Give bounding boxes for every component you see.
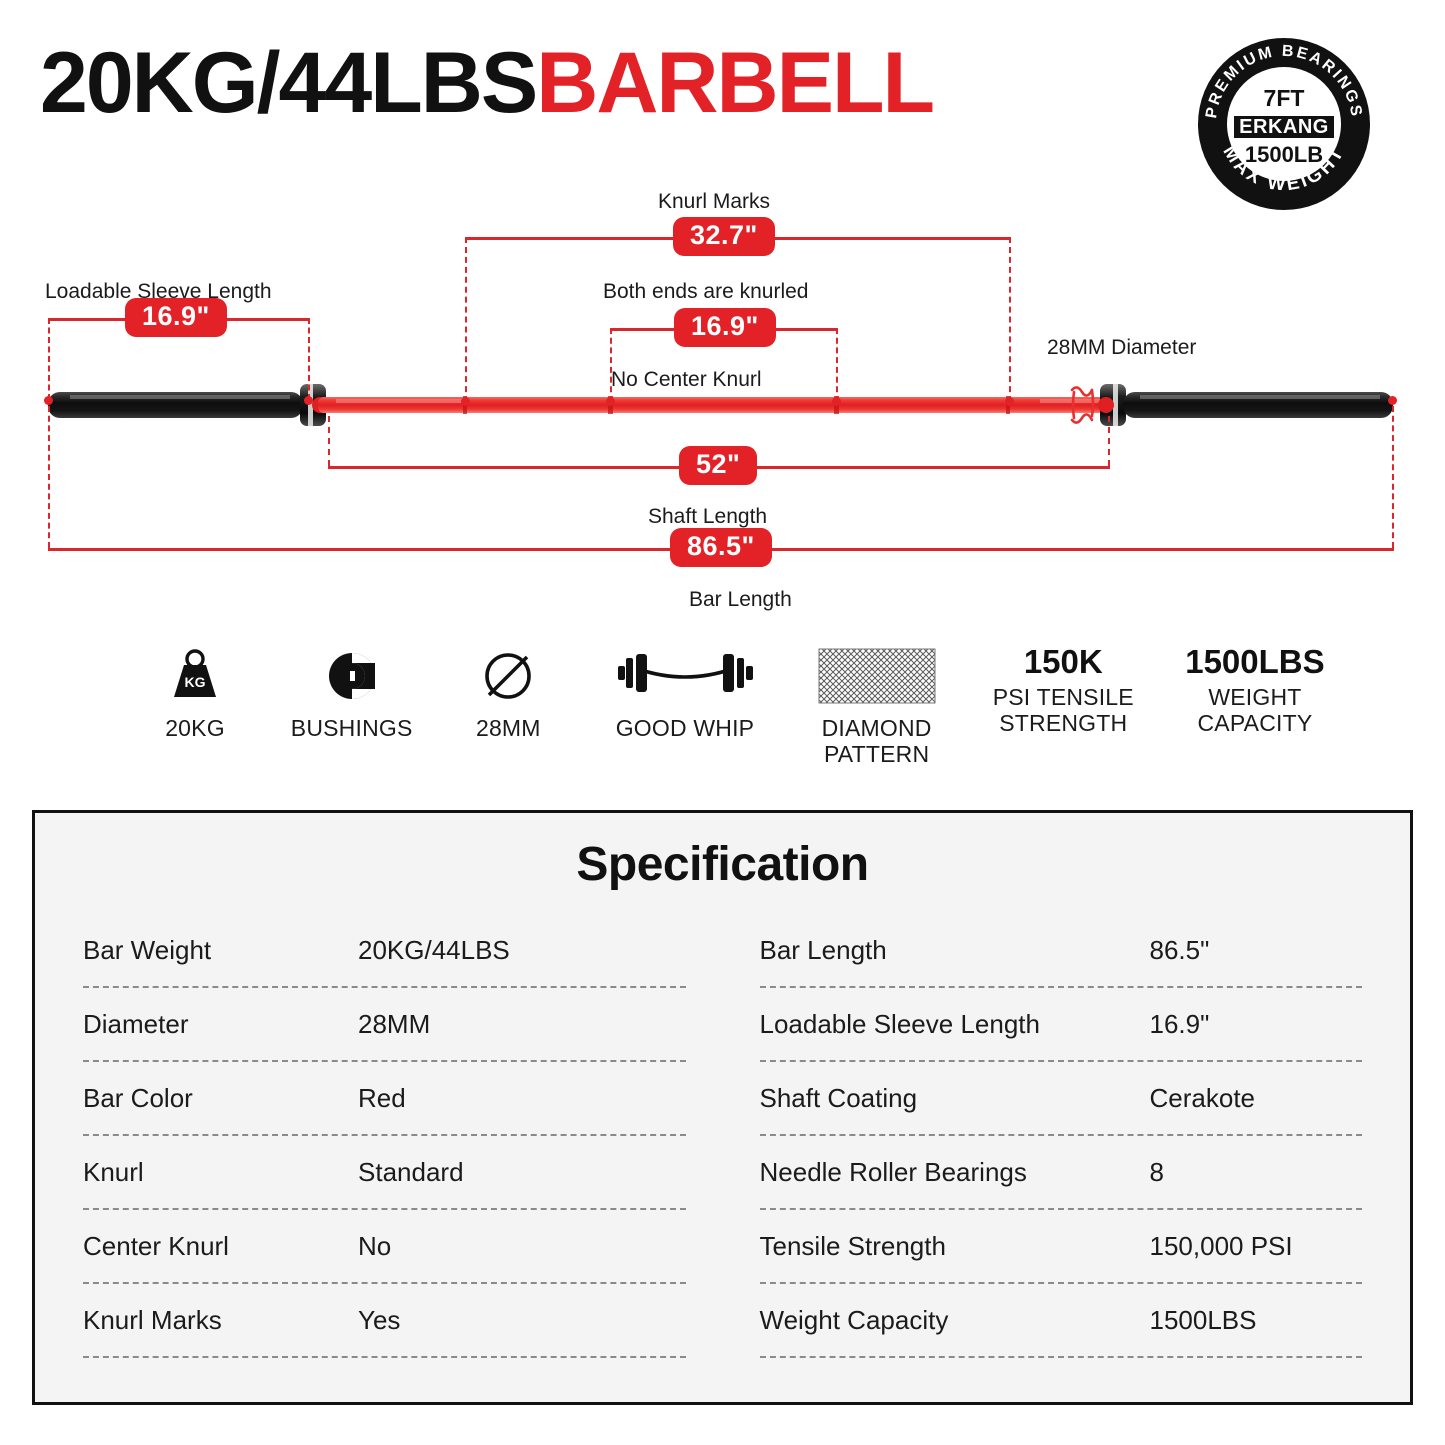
spec-key: Diameter: [83, 1009, 358, 1040]
diameter-symbol-icon: [477, 645, 539, 707]
feature-big-value: 150K: [1024, 645, 1103, 678]
feature-label: PSI TENSILE STRENGTH: [993, 685, 1134, 737]
spec-key: Tensile Strength: [760, 1231, 1150, 1262]
table-row: Diameter28MM: [83, 988, 686, 1062]
value-knurl-span: 16.9": [674, 308, 776, 347]
table-row: Shaft CoatingCerakote: [760, 1062, 1363, 1136]
spec-value: 28MM: [358, 1009, 686, 1040]
badge-capacity-text: 1500LB: [1245, 142, 1323, 167]
spec-value: 1500LBS: [1150, 1305, 1363, 1336]
title-weight-text: 20KG/44LBS: [40, 35, 536, 131]
endpoint-dot: [832, 397, 841, 406]
table-row: Tensile Strength150,000 PSI: [760, 1210, 1363, 1284]
table-row: Bar ColorRed: [83, 1062, 686, 1136]
feature-20kg: KG 20KG: [120, 645, 270, 742]
badge-length-text: 7FT: [1264, 85, 1305, 111]
spec-value: 86.5": [1150, 935, 1363, 966]
bent-barbell-icon: [610, 645, 760, 707]
spec-value: Cerakote: [1150, 1083, 1363, 1114]
ext-line-sleeve-left: [48, 318, 50, 400]
bushing-ring-icon: [321, 645, 383, 707]
specification-title: Specification: [35, 837, 1410, 892]
endpoint-dot: [1388, 396, 1397, 405]
endpoint-dot: [461, 397, 470, 406]
feature-icon-row: KG 20KG BUSHINGS: [120, 645, 1350, 775]
label-knurl-marks: Knurl Marks: [658, 190, 770, 214]
kg-weight-icon: KG: [164, 645, 226, 707]
page-title: 20KG/44LBSBARBELL: [40, 40, 933, 126]
spec-key: Center Knurl: [83, 1231, 358, 1262]
feature-label: WEIGHT CAPACITY: [1197, 685, 1312, 737]
spec-value: 16.9": [1150, 1009, 1363, 1040]
ext-line-bar-right: [1392, 406, 1394, 548]
svg-text:KG: KG: [185, 674, 206, 690]
specification-left-column: Bar Weight20KG/44LBS Diameter28MM Bar Co…: [83, 914, 720, 1358]
value-loadable-sleeve: 16.9": [125, 298, 227, 337]
feature-label: DIAMOND PATTERN: [822, 716, 932, 768]
table-row: Needle Roller Bearings8: [760, 1136, 1363, 1210]
feature-good-whip: GOOD WHIP: [590, 645, 780, 742]
spec-key: Knurl Marks: [83, 1305, 358, 1336]
feature-diamond-pattern: DIAMOND PATTERN: [787, 645, 967, 768]
ext-line-knurl-span-right: [836, 328, 838, 402]
spec-value: Standard: [358, 1157, 686, 1188]
label-bar-length: Bar Length: [689, 588, 792, 612]
diamond-knurl-swatch-icon: [818, 645, 936, 707]
spec-key: Weight Capacity: [760, 1305, 1150, 1336]
endpoint-dot: [606, 397, 615, 406]
table-row: Center KnurlNo: [83, 1210, 686, 1284]
spec-value: No: [358, 1231, 686, 1262]
spec-value: Red: [358, 1083, 686, 1114]
value-shaft-length: 52": [679, 446, 757, 485]
spec-key: Bar Length: [760, 935, 1150, 966]
spec-value: 150,000 PSI: [1150, 1231, 1363, 1262]
feature-weight-capacity: 1500LBS WEIGHT CAPACITY: [1160, 645, 1350, 737]
badge-brand-text: ERKANG: [1239, 116, 1329, 138]
value-bar-length: 86.5": [670, 528, 772, 567]
tensile-value: 150K: [1024, 645, 1103, 683]
ext-line-shaft-left: [328, 416, 330, 466]
spec-value: Yes: [358, 1305, 686, 1336]
label-shaft-length: Shaft Length: [648, 505, 767, 529]
feature-label: BUSHINGS: [291, 716, 413, 742]
specification-columns: Bar Weight20KG/44LBS Diameter28MM Bar Co…: [35, 914, 1410, 1358]
feature-tensile-strength: 150K PSI TENSILE STRENGTH: [973, 645, 1153, 737]
ext-line-sleeve-right: [308, 318, 310, 400]
infographic-page: 20KG/44LBSBARBELL PREMIUM BEARINGS MAX W…: [0, 0, 1445, 1445]
table-row: Weight Capacity1500LBS: [760, 1284, 1363, 1358]
feature-label: 28MM: [476, 716, 541, 742]
feature-28mm: 28MM: [433, 645, 583, 742]
label-28mm-diameter: 28MM Diameter: [1047, 336, 1196, 360]
feature-bushings: BUSHINGS: [277, 645, 427, 742]
value-knurl-marks: 32.7": [673, 217, 775, 256]
feature-label: GOOD WHIP: [616, 716, 755, 742]
ext-line-shaft-right: [1108, 416, 1110, 466]
feature-label: 20KG: [165, 716, 225, 742]
spec-key: Bar Color: [83, 1083, 358, 1114]
spec-key: Bar Weight: [83, 935, 358, 966]
table-row: Bar Weight20KG/44LBS: [83, 914, 686, 988]
table-row: Knurl MarksYes: [83, 1284, 686, 1358]
endpoint-dot: [1005, 397, 1014, 406]
barbell-dimension-diagram: Loadable Sleeve Length Knurl Marks Both …: [0, 180, 1445, 630]
table-row: Loadable Sleeve Length16.9": [760, 988, 1363, 1062]
capacity-value: 1500LBS: [1185, 645, 1324, 683]
spec-key: Shaft Coating: [760, 1083, 1150, 1114]
specification-right-column: Bar Length86.5" Loadable Sleeve Length16…: [720, 914, 1363, 1358]
ext-line-knurl-marks-right: [1009, 237, 1011, 402]
spec-value: 8: [1150, 1157, 1363, 1188]
table-row: KnurlStandard: [83, 1136, 686, 1210]
spec-key: Loadable Sleeve Length: [760, 1009, 1150, 1040]
ext-line-bar-left: [48, 406, 50, 548]
table-row: Bar Length86.5": [760, 914, 1363, 988]
endpoint-dot: [44, 396, 53, 405]
label-both-ends-knurled: Both ends are knurled: [603, 280, 808, 304]
spec-key: Needle Roller Bearings: [760, 1157, 1150, 1188]
spec-value: 20KG/44LBS: [358, 935, 686, 966]
spec-key: Knurl: [83, 1157, 358, 1188]
endpoint-dot: [304, 396, 313, 405]
feature-big-value: 1500LBS: [1185, 645, 1324, 678]
title-product-text: BARBELL: [536, 35, 933, 131]
ext-line-knurl-span-left: [610, 328, 612, 402]
barbell-illustration: [0, 380, 1445, 440]
specification-panel: Specification Bar Weight20KG/44LBS Diame…: [32, 810, 1413, 1405]
ext-line-knurl-marks-left: [465, 237, 467, 402]
